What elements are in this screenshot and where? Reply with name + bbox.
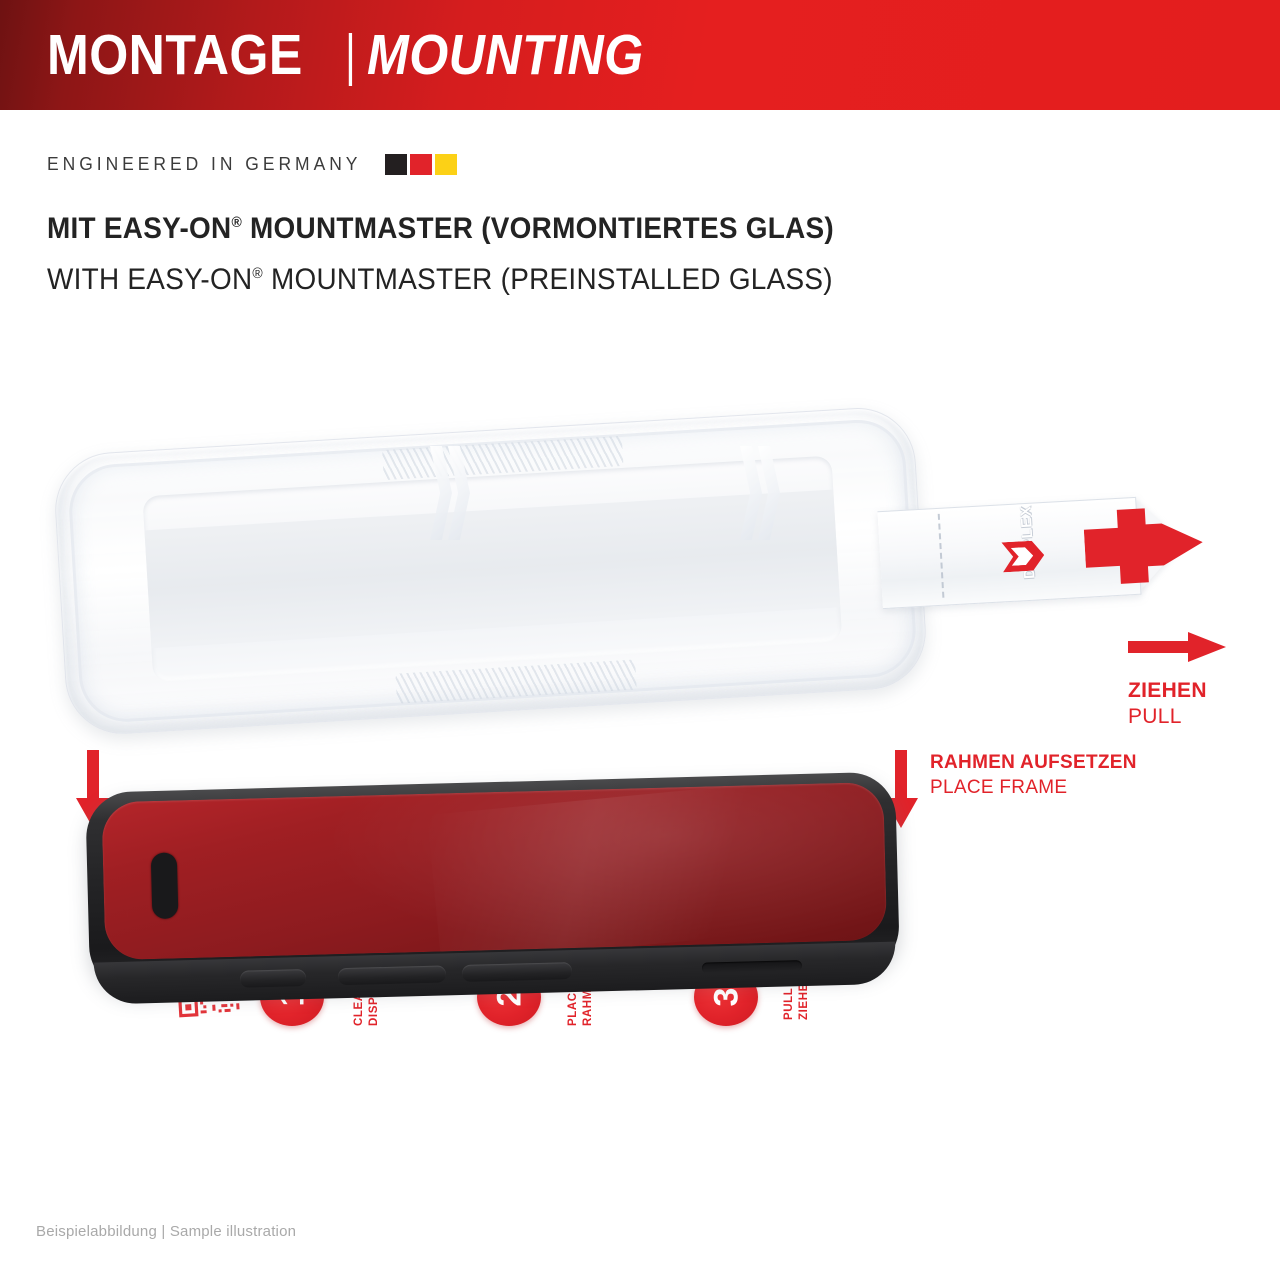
phone-action-button <box>240 969 306 988</box>
phone-graphic <box>85 771 911 1022</box>
page-title-en: MOUNTING <box>367 16 644 94</box>
callout-pull: ZIEHEN PULL <box>1128 632 1278 730</box>
heading-english: WITH EASY-ON® MOUNTMASTER (PREINSTALLED … <box>47 263 833 297</box>
heading-german: MIT EASY-ON® MOUNTMASTER (VORMONTIERTES … <box>47 212 834 246</box>
phone-volume-down-button <box>462 962 572 982</box>
flag-swatch-red <box>410 154 432 175</box>
flag-swatch-gold <box>435 154 457 175</box>
mount-frame-graphic <box>52 405 928 755</box>
phone-dynamic-island <box>151 852 179 919</box>
pull-tab-graphic[interactable]: DISPLEX <box>877 483 1213 621</box>
arrow-right-icon <box>1128 632 1226 662</box>
heading-english-post: MOUNTMASTER (PREINSTALLED GLASS) <box>263 263 833 296</box>
page-title: MONTAGE|MOUNTING <box>47 16 681 94</box>
pull-direction-arrow-icon <box>1083 501 1205 589</box>
heading-german-post: MOUNTMASTER (VORMONTIERTES GLAS) <box>242 212 834 245</box>
callout-place-frame-de: RAHMEN AUFSETZEN <box>930 750 1250 775</box>
phone-screen <box>101 782 887 960</box>
heading-english-pre: WITH EASY-ON <box>47 263 252 296</box>
phone-volume-up-button <box>338 965 446 985</box>
callout-place-frame: RAHMEN AUFSETZEN PLACE FRAME <box>930 750 1250 800</box>
callout-place-frame-en: PLACE FRAME <box>930 775 1250 800</box>
engineered-in-germany-label: ENGINEERED IN GERMANY <box>47 154 361 175</box>
footer-note: Beispielabbildung | Sample illustration <box>36 1223 296 1240</box>
phone-screen-glare <box>427 782 820 960</box>
flag-swatch-black <box>385 154 407 175</box>
page-title-de: MONTAGE <box>47 16 303 94</box>
callout-pull-en: PULL <box>1128 704 1278 730</box>
engineered-in-germany-row: ENGINEERED IN GERMANY <box>47 152 457 176</box>
registered-mark-en: ® <box>252 265 263 282</box>
heading-german-pre: MIT EASY-ON <box>47 212 231 245</box>
german-flag-swatches <box>385 154 457 175</box>
registered-mark-de: ® <box>231 214 242 231</box>
chevron-arrow-icon-1 <box>430 438 476 548</box>
page-title-separator: | <box>342 16 363 94</box>
mounting-illustration: 1 CLEAN SCREEN DISPLAY REINIGEN 2 PLACE … <box>0 400 1280 1050</box>
callout-pull-de: ZIEHEN <box>1128 678 1278 704</box>
header-banner: MONTAGE|MOUNTING <box>0 0 1280 110</box>
chevron-arrow-icon-2 <box>740 438 786 548</box>
step-band <box>144 489 840 648</box>
